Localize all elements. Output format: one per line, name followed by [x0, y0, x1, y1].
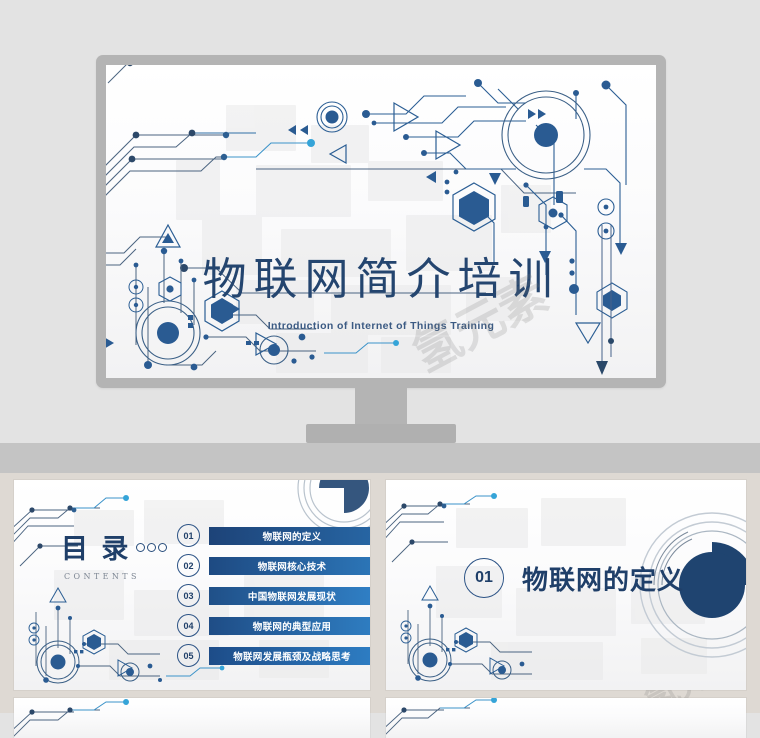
section-title: 物联网的定义: [522, 560, 684, 597]
toc-item-label: 物联网核心技术: [209, 557, 370, 575]
monitor-frame: 物联网简介培训 Introduction of Internet of Thin…: [96, 55, 666, 388]
toc-item-label: 物联网发展瓶颈及战略思考: [209, 647, 370, 665]
slide-title: 物联网简介培训: [106, 243, 656, 307]
toc-item-04[interactable]: 04 物联网的典型应用: [177, 614, 370, 637]
toc-item-number: 04: [177, 614, 200, 637]
thumbnail-toc-slide[interactable]: 目 录 CONTENTS 01 物联网的定义 02 物联网核心技术 03 中国物…: [14, 480, 370, 690]
section-number: 01: [464, 558, 504, 598]
section-slide: 01 物联网的定义: [386, 480, 746, 690]
toc-item-02[interactable]: 02 物联网核心技术: [177, 554, 370, 577]
toc-heading: 目 录 CONTENTS: [61, 530, 167, 581]
hero-region: 物联网简介培训 Introduction of Internet of Thin…: [0, 0, 760, 443]
monitor-stand-base: [306, 424, 456, 443]
toc-slide: 目 录 CONTENTS 01 物联网的定义 02 物联网核心技术 03 中国物…: [14, 480, 370, 690]
section-header: 01 物联网的定义: [464, 558, 684, 598]
toc-item-03[interactable]: 03 中国物联网发展现状: [177, 584, 370, 607]
toc-list: 01 物联网的定义 02 物联网核心技术 03 中国物联网发展现状 04 物联网…: [177, 524, 370, 674]
toc-item-label: 中国物联网发展现状: [209, 587, 370, 605]
toc-dots-icon: [134, 530, 167, 557]
next-circuit-artwork-left: [14, 698, 370, 738]
next-slide-left: [14, 698, 370, 738]
monitor-screen[interactable]: 物联网简介培训 Introduction of Internet of Thin…: [106, 65, 656, 378]
next-slide-right: [386, 698, 746, 738]
toc-heading-en: CONTENTS: [64, 572, 167, 581]
thumbnail-section-slide[interactable]: 01 物联网的定义: [386, 480, 746, 690]
toc-heading-cn: 目 录: [61, 530, 167, 563]
divider-band: [0, 443, 760, 473]
toc-item-number: 05: [177, 644, 200, 667]
toc-item-number: 03: [177, 584, 200, 607]
slide-subtitle: Introduction of Internet of Things Train…: [106, 320, 656, 332]
monitor-stand-neck: [355, 388, 407, 424]
thumbnail-next-row-right[interactable]: [386, 698, 746, 738]
thumbnail-next-row-left[interactable]: [14, 698, 370, 738]
toc-item-05[interactable]: 05 物联网发展瓶颈及战略思考: [177, 644, 370, 667]
toc-item-01[interactable]: 01 物联网的定义: [177, 524, 370, 547]
toc-item-label: 物联网的定义: [209, 527, 370, 545]
next-circuit-artwork-right: [386, 698, 746, 738]
title-slide: 物联网简介培训 Introduction of Internet of Thin…: [106, 65, 656, 378]
toc-item-number: 01: [177, 524, 200, 547]
toc-item-label: 物联网的典型应用: [209, 617, 370, 635]
toc-item-number: 02: [177, 554, 200, 577]
